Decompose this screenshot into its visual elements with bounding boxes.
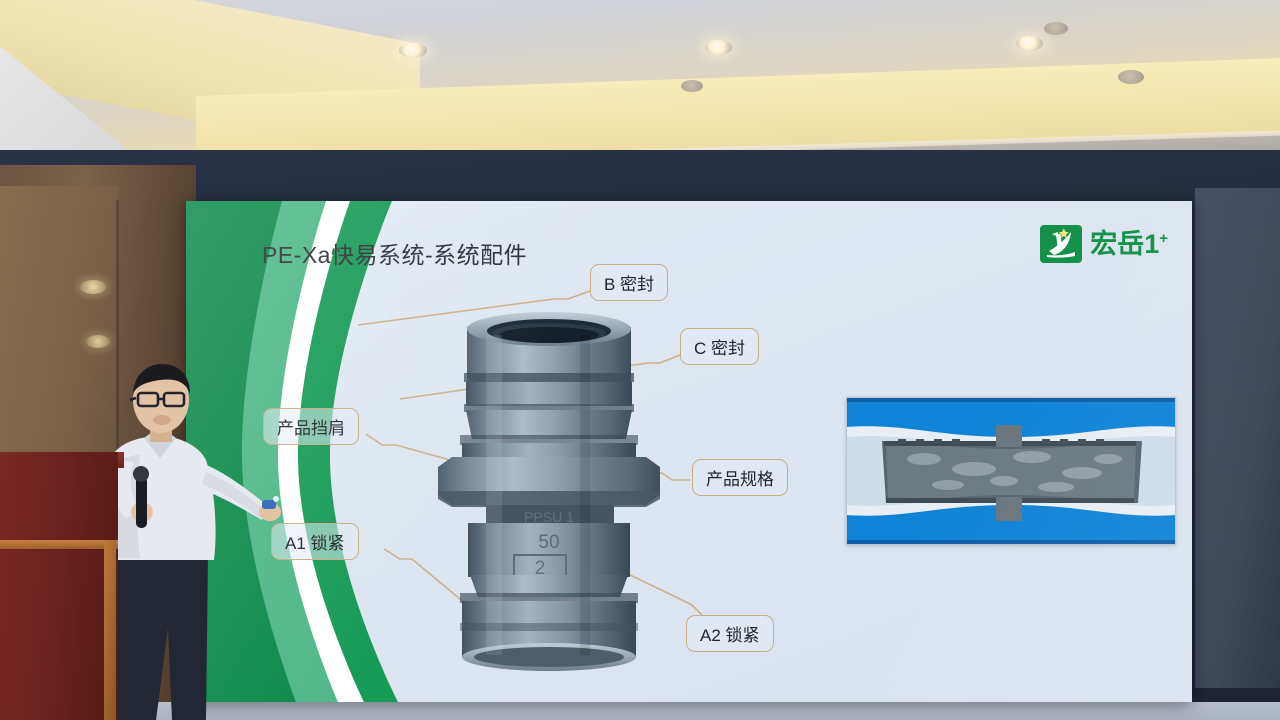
wall-spot-icon [86, 335, 110, 348]
logo-brand-text: 宏岳1 [1090, 229, 1159, 259]
svg-text:PPSU 1: PPSU 1 [524, 509, 574, 525]
svg-text:50: 50 [538, 532, 559, 553]
downlight-icon [705, 40, 732, 55]
callout-c-seal[interactable]: C 密封 [680, 328, 759, 365]
callout-product-spec[interactable]: 产品规格 [692, 459, 788, 496]
slide-title: PE-Xa快易系统-系统配件 [262, 236, 527, 270]
downlight-icon [681, 80, 703, 92]
projection-screen: PE-Xa快易系统-系统配件 宏岳1+ [186, 201, 1192, 702]
downlight-icon [1044, 22, 1068, 35]
pex-fitting-coupling-photo: 50 PPSU 1 50 2 [430, 305, 668, 677]
podium-trim [0, 540, 118, 549]
logo-text: 宏岳1+ [1090, 231, 1168, 258]
downlight-icon [1118, 70, 1144, 84]
presentation-scene: PE-Xa快易系统-系统配件 宏岳1+ [0, 0, 1280, 720]
callout-label: 产品挡肩 [277, 419, 345, 438]
callout-label: A1 锁紧 [285, 534, 345, 553]
callout-label: A2 锁紧 [700, 626, 760, 645]
company-logo: 宏岳1+ [1040, 225, 1168, 263]
callout-label: B 密封 [604, 275, 654, 294]
hongyue-leaf-mark-icon [1040, 225, 1082, 263]
downlight-icon [399, 43, 427, 58]
callout-label: 产品规格 [706, 470, 774, 489]
podium [0, 452, 118, 720]
callout-label: C 密封 [694, 339, 745, 358]
downlight-icon [1016, 36, 1043, 51]
pipe-cross-section-photo [846, 397, 1176, 545]
podium-edge [104, 540, 116, 720]
wall-spot-icon [80, 280, 106, 294]
callout-a2-lock[interactable]: A2 锁紧 [686, 615, 774, 652]
right-wall-panel [1195, 188, 1280, 688]
callout-b-seal[interactable]: B 密封 [590, 264, 668, 301]
logo-plus-superscript: + [1159, 230, 1168, 247]
